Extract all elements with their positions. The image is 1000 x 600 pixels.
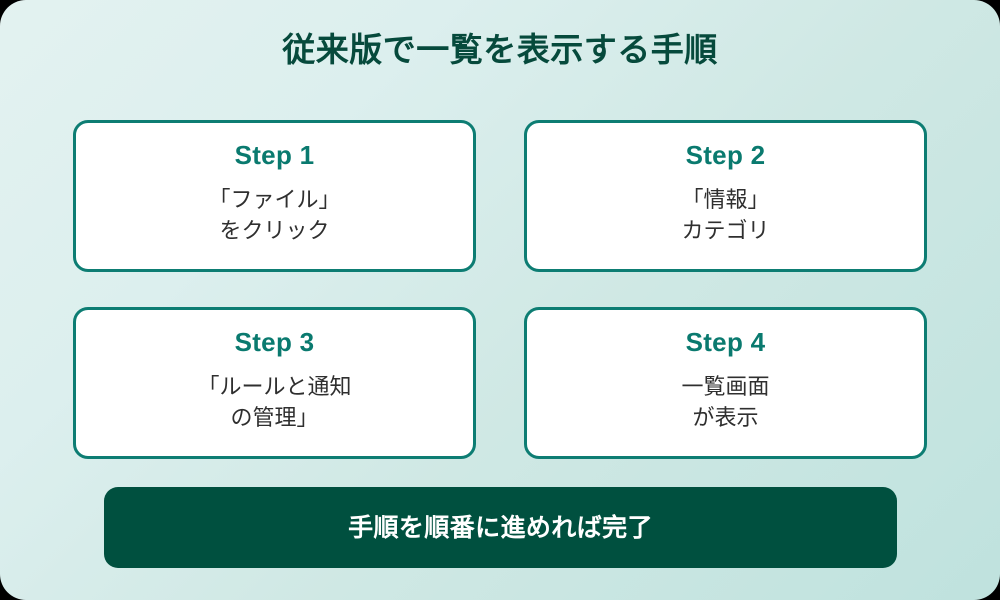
page-title: 従来版で一覧を表示する手順 xyxy=(0,30,1000,70)
step-card-1: Step 1 「ファイル」 をクリック xyxy=(73,120,476,272)
step-card-3-body: 「ルールと通知 の管理」 xyxy=(197,371,351,433)
step-card-2: Step 2 「情報」 カテゴリ xyxy=(524,120,927,272)
step-card-4-heading: Step 4 xyxy=(686,328,766,357)
step-card-2-line-1: 「情報」 xyxy=(681,184,769,215)
step-card-2-heading: Step 2 xyxy=(686,141,766,170)
infographic-root: 従来版で一覧を表示する手順 Step 1 「ファイル」 をクリック Step 2… xyxy=(0,0,1000,600)
steps-grid: Step 1 「ファイル」 をクリック Step 2 「情報」 カテゴリ Ste… xyxy=(73,120,927,459)
step-card-4-body: 一覧画面 が表示 xyxy=(681,371,769,433)
step-card-2-body: 「情報」 カテゴリ xyxy=(681,184,769,246)
step-card-2-line-2: カテゴリ xyxy=(681,215,769,246)
step-card-1-line-1: 「ファイル」 xyxy=(208,184,340,215)
step-card-1-heading: Step 1 xyxy=(235,141,315,170)
summary-banner: 手順を順番に進めれば完了 xyxy=(104,487,897,568)
step-card-4-line-2: が表示 xyxy=(681,402,769,433)
step-card-4-line-1: 一覧画面 xyxy=(681,371,769,402)
step-card-4: Step 4 一覧画面 が表示 xyxy=(524,307,927,459)
step-card-1-body: 「ファイル」 をクリック xyxy=(208,184,340,246)
summary-banner-text: 手順を順番に進めれば完了 xyxy=(348,513,653,543)
step-card-3-line-1: 「ルールと通知 xyxy=(197,371,351,402)
step-card-3-line-2: の管理」 xyxy=(197,402,351,433)
step-card-1-line-2: をクリック xyxy=(208,215,340,246)
step-card-3-heading: Step 3 xyxy=(235,328,315,357)
step-card-3: Step 3 「ルールと通知 の管理」 xyxy=(73,307,476,459)
